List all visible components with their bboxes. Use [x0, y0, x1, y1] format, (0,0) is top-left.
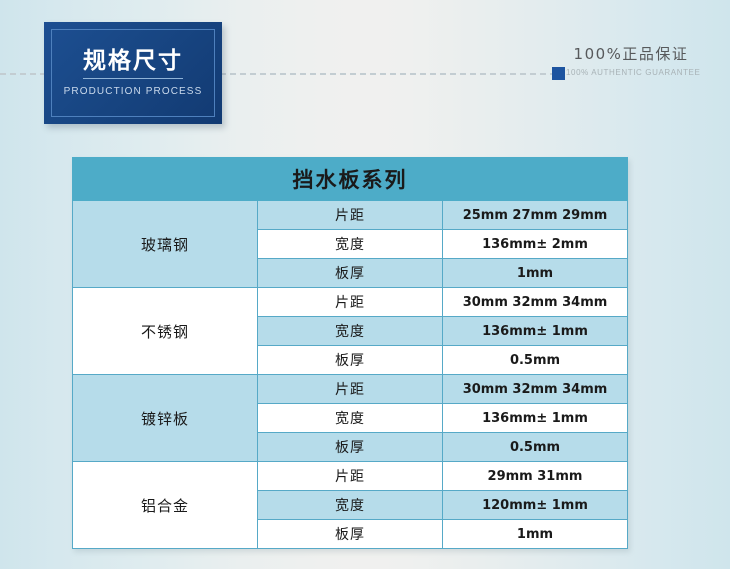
spec-label-cell: 宽度	[258, 230, 443, 259]
spec-value-cell: 136mm± 1mm	[443, 404, 628, 433]
spec-label-cell: 板厚	[258, 346, 443, 375]
blue-square-marker-icon	[552, 67, 565, 80]
spec-table-title: 挡水板系列	[73, 158, 628, 201]
spec-table-header-row: 挡水板系列	[73, 158, 628, 201]
spec-value-cell: 30mm 32mm 34mm	[443, 288, 628, 317]
spec-value-cell: 1mm	[443, 259, 628, 288]
page-root: 规格尺寸 PRODUCTION PROCESS 100%正品保证 100% AU…	[0, 0, 730, 569]
section-title-plaque: 规格尺寸 PRODUCTION PROCESS	[44, 22, 222, 124]
spec-label-cell: 片距	[258, 375, 443, 404]
guarantee-block: 100%正品保证 100% AUTHENTIC GUARANTEE	[566, 44, 696, 77]
spec-table-container: 挡水板系列 玻璃钢片距25mm 27mm 29mm宽度136mm± 2mm板厚1…	[72, 157, 628, 549]
guarantee-title-en: 100% AUTHENTIC GUARANTEE	[566, 68, 696, 77]
spec-label-cell: 宽度	[258, 404, 443, 433]
table-row: 铝合金片距29mm 31mm	[73, 462, 628, 491]
spec-label-cell: 片距	[258, 288, 443, 317]
material-category-cell: 镀锌板	[73, 375, 258, 462]
spec-value-cell: 29mm 31mm	[443, 462, 628, 491]
table-row: 镀锌板片距30mm 32mm 34mm	[73, 375, 628, 404]
spec-label-cell: 宽度	[258, 491, 443, 520]
header-band: 规格尺寸 PRODUCTION PROCESS 100%正品保证 100% AU…	[0, 0, 730, 140]
spec-label-cell: 片距	[258, 462, 443, 491]
spec-label-cell: 宽度	[258, 317, 443, 346]
plaque-title-cn: 规格尺寸	[83, 50, 183, 79]
spec-value-cell: 25mm 27mm 29mm	[443, 201, 628, 230]
spec-value-cell: 1mm	[443, 520, 628, 549]
spec-table-body: 挡水板系列 玻璃钢片距25mm 27mm 29mm宽度136mm± 2mm板厚1…	[73, 158, 628, 549]
spec-label-cell: 片距	[258, 201, 443, 230]
spec-table: 挡水板系列 玻璃钢片距25mm 27mm 29mm宽度136mm± 2mm板厚1…	[72, 157, 628, 549]
plaque-inner-border: 规格尺寸 PRODUCTION PROCESS	[51, 29, 215, 117]
spec-label-cell: 板厚	[258, 259, 443, 288]
spec-value-cell: 136mm± 2mm	[443, 230, 628, 259]
table-row: 玻璃钢片距25mm 27mm 29mm	[73, 201, 628, 230]
spec-value-cell: 136mm± 1mm	[443, 317, 628, 346]
plaque-title-en: PRODUCTION PROCESS	[64, 86, 203, 97]
spec-value-cell: 0.5mm	[443, 433, 628, 462]
material-category-cell: 玻璃钢	[73, 201, 258, 288]
spec-label-cell: 板厚	[258, 520, 443, 549]
table-row: 不锈钢片距30mm 32mm 34mm	[73, 288, 628, 317]
guarantee-title-cn: 100%正品保证	[566, 44, 696, 64]
spec-label-cell: 板厚	[258, 433, 443, 462]
spec-value-cell: 120mm± 1mm	[443, 491, 628, 520]
spec-value-cell: 30mm 32mm 34mm	[443, 375, 628, 404]
spec-value-cell: 0.5mm	[443, 346, 628, 375]
material-category-cell: 不锈钢	[73, 288, 258, 375]
material-category-cell: 铝合金	[73, 462, 258, 549]
